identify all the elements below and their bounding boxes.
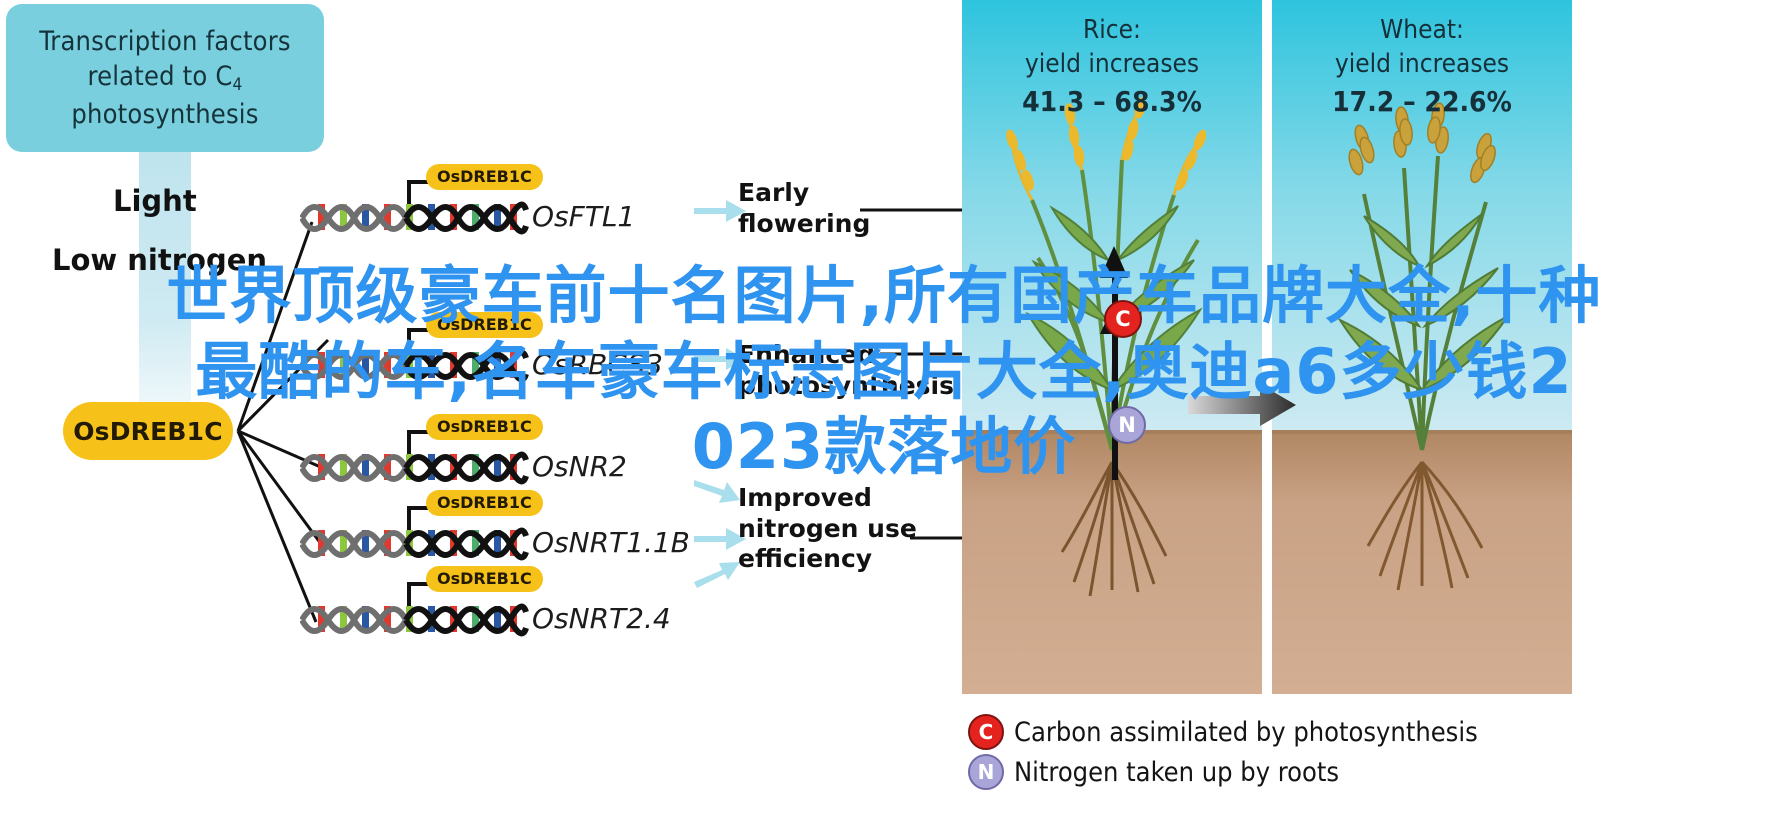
- gene-label-osnrt11b: OsNRT1.1B: [532, 526, 690, 559]
- panel-wheat-metric: yield increases: [1335, 49, 1509, 79]
- carbon-badge: C: [1104, 300, 1142, 338]
- legend-row-nitrogen: N Nitrogen taken up by roots: [968, 752, 1478, 792]
- wheat-plant-illustration: [1272, 90, 1572, 690]
- panel-rice-caption: Rice: yield increases 41.3 – 68.3%: [962, 14, 1262, 120]
- gene-label-osnrt24: OsNRT2.4: [532, 602, 671, 635]
- nitrogen-badge: N: [968, 754, 1004, 790]
- tf-box-subscript: 4: [233, 75, 243, 95]
- gene-label-osrbcs3: OsRBCS3: [532, 348, 663, 381]
- cue-light: Light: [113, 184, 197, 218]
- promoter-chip: OsDREB1C: [426, 164, 543, 190]
- promoter-chip: OsDREB1C: [426, 566, 543, 592]
- figure-canvas: Transcription factors related to C4 phot…: [0, 0, 1768, 801]
- panel-wheat: Wheat: yield increases 17.2 – 22.6%: [1272, 0, 1572, 694]
- panel-wheat-caption: Wheat: yield increases 17.2 – 22.6%: [1272, 14, 1572, 120]
- panel-rice-crop: Rice:: [1083, 15, 1141, 45]
- promoter-chip: OsDREB1C: [426, 312, 543, 338]
- panel-wheat-crop: Wheat:: [1380, 15, 1464, 45]
- tf-box-line2: related to C: [88, 61, 233, 92]
- panel-rice: C N Rice: yield increases 41.3 – 68.3%: [962, 0, 1262, 694]
- carbon-badge: C: [968, 714, 1004, 750]
- legend-text-nitrogen: Nitrogen taken up by roots: [1014, 757, 1339, 788]
- hub-osdreb1c: OsDREB1C: [63, 402, 233, 460]
- panel-wheat-value: 17.2 – 22.6%: [1272, 84, 1572, 120]
- transcription-factor-box: Transcription factors related to C4 phot…: [6, 4, 324, 152]
- gene-row-osnrt24: OsDREB1C OsNRT2.4: [300, 592, 700, 668]
- legend-row-carbon: C Carbon assimilated by photosynthesis: [968, 712, 1478, 752]
- panel-rice-value: 41.3 – 68.3%: [962, 84, 1262, 120]
- gene-row-osrbcs3: OsDREB1C OsRBCS3: [300, 338, 700, 414]
- transfer-arrow-icon: [1188, 382, 1298, 428]
- legend-text-carbon: Carbon assimilated by photosynthesis: [1014, 717, 1478, 748]
- nitrogen-badge: N: [1108, 406, 1146, 444]
- gene-label-osftl1: OsFTL1: [532, 200, 635, 233]
- gene-label-osnr2: OsNR2: [532, 450, 627, 483]
- tf-box-line1: Transcription factors: [39, 26, 291, 57]
- tf-box-line3: photosynthesis: [71, 99, 258, 130]
- promoter-chip: OsDREB1C: [426, 414, 543, 440]
- legend: C Carbon assimilated by photosynthesis N…: [968, 712, 1478, 792]
- promoter-chip: OsDREB1C: [426, 490, 543, 516]
- outcome-early-flowering: Early flowering: [738, 178, 870, 239]
- panel-rice-metric: yield increases: [1025, 49, 1199, 79]
- gene-row-osftl1: OsDREB1C OsFTL1: [300, 190, 700, 266]
